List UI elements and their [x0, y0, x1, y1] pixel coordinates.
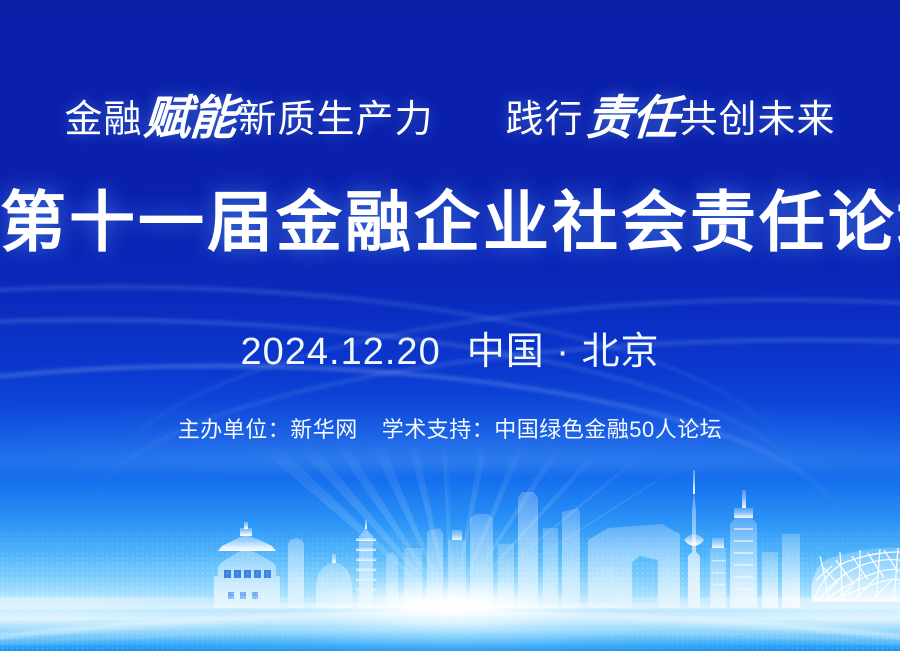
tagline-left-brush: 赋能	[143, 95, 238, 142]
tagline-row: 金融赋能新质生产力 践行责任共创未来	[0, 93, 900, 140]
tagline-right: 践行责任共创未来	[506, 93, 836, 140]
poster-content: 金融赋能新质生产力 践行责任共创未来 第十一届金融企业社会责任论坛 2024.1…	[0, 0, 900, 651]
date-location-row: 2024.12.20中国 · 北京	[0, 332, 900, 374]
tagline-left: 金融赋能新质生产力	[64, 93, 433, 140]
event-date: 2024.12.20	[241, 331, 441, 373]
tagline-right-brush: 责任	[584, 95, 679, 142]
academic-support: 学术支持：中国绿色金融50人论坛	[382, 417, 722, 442]
page-title: 第十一届金融企业社会责任论坛	[0, 188, 900, 257]
tagline-right-prefix: 践行	[506, 101, 584, 139]
tagline-left-prefix: 金融	[64, 101, 142, 139]
host-organization: 主办单位：新华网	[178, 417, 358, 442]
credits-row: 主办单位：新华网学术支持：中国绿色金融50人论坛	[0, 412, 900, 444]
event-location: 中国 · 北京	[467, 331, 660, 373]
tagline-right-suffix: 共创未来	[680, 101, 836, 139]
conference-poster: 金融赋能新质生产力 践行责任共创未来 第十一届金融企业社会责任论坛 2024.1…	[0, 0, 900, 651]
tagline-left-suffix: 新质生产力	[238, 101, 433, 139]
